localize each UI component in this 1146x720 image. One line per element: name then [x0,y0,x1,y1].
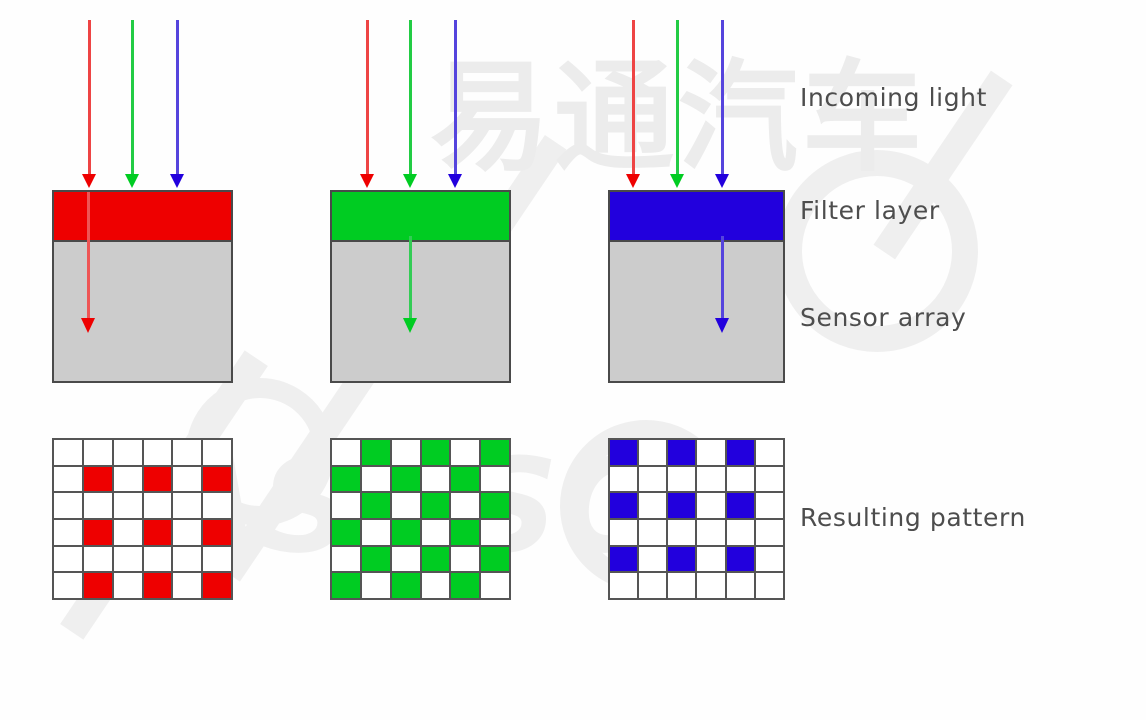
incoming-beam-red [632,20,635,175]
pattern-grid-blue[interactable] [608,438,785,600]
beam-shaft [721,236,724,320]
pattern-cell [610,467,637,492]
label-resulting-pattern: Resulting pattern [800,503,1026,532]
diagram-canvas: 易通汽车 ASOSO [0,0,1146,720]
pattern-cell [639,440,666,465]
pattern-cell [610,547,637,572]
pattern-cell [756,467,783,492]
pattern-cell [668,520,695,545]
pattern-cell [610,573,637,598]
beam-arrowhead [715,318,729,333]
pattern-cell [639,573,666,598]
filter-layer-blue [608,190,785,242]
pattern-cell [697,520,724,545]
pattern-cell [639,520,666,545]
pattern-cell [610,493,637,518]
pattern-cell [727,440,754,465]
pattern-cell [727,547,754,572]
pattern-cell [727,573,754,598]
beam-shaft [632,20,635,175]
transmitted-beam-blue [721,236,724,320]
pattern-cell [639,493,666,518]
pattern-cell [639,467,666,492]
pattern-cell [697,573,724,598]
pattern-cell [668,467,695,492]
pattern-cell [727,493,754,518]
pattern-cell [697,547,724,572]
pattern-cell [639,547,666,572]
pattern-cell [697,467,724,492]
pattern-cell [727,520,754,545]
label-incoming-light: Incoming light [800,83,987,112]
label-sensor-array: Sensor array [800,303,966,332]
beam-shaft [721,20,724,175]
beam-arrowhead [715,174,729,188]
beam-shaft [676,20,679,175]
pattern-cell [756,573,783,598]
incoming-beam-green [676,20,679,175]
pattern-cell [697,493,724,518]
sensor-stack-blue [608,190,785,383]
pattern-cell [756,493,783,518]
sensor-array-blue [608,242,785,383]
beam-arrowhead [670,174,684,188]
pattern-cell [610,440,637,465]
pattern-cell [756,547,783,572]
pattern-cell [668,493,695,518]
label-filter-layer: Filter layer [800,196,940,225]
incoming-beam-blue [721,20,724,175]
beam-arrowhead [626,174,640,188]
pattern-cell [756,440,783,465]
pattern-cell [668,547,695,572]
pattern-cell [610,520,637,545]
pattern-cell [697,440,724,465]
pattern-cell [668,573,695,598]
pattern-cell [668,440,695,465]
pattern-cell [727,467,754,492]
pattern-cell [756,520,783,545]
